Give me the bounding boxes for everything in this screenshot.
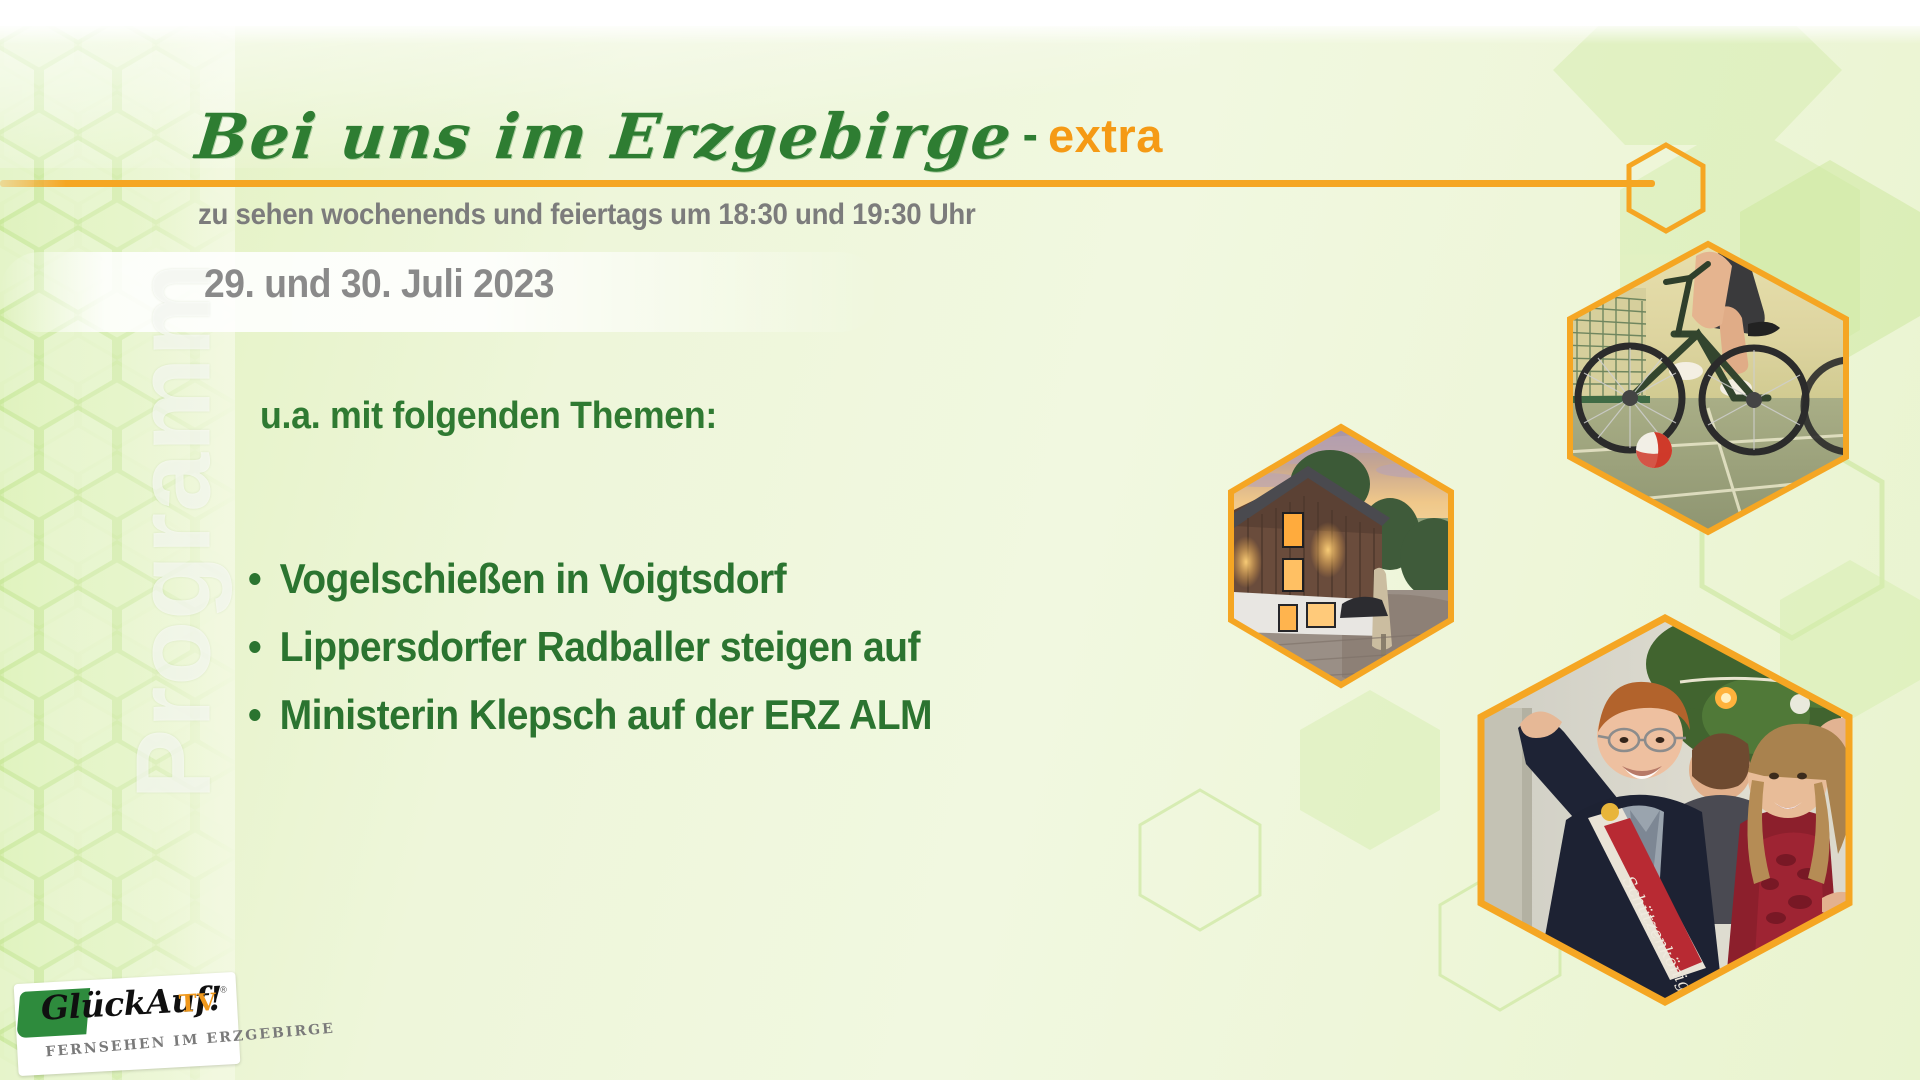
topics-intro: u.a. mit folgenden Themen: <box>260 395 717 438</box>
erz-alm-building-photo <box>1222 422 1460 690</box>
title-dash: - <box>1013 107 1048 161</box>
topics-list: •Vogelschießen in Voigtsdorf •Lippersdor… <box>248 545 983 749</box>
orange-divider-rule <box>0 180 1655 187</box>
list-item: •Ministerin Klepsch auf der ERZ ALM <box>248 681 932 749</box>
topic-text: Ministerin Klepsch auf der ERZ ALM <box>280 691 932 738</box>
schuetzenkoenig-couple-photo: Schützenkönig <box>1470 612 1860 1008</box>
page-title: Bei uns im Erzgebirge-extra <box>196 100 1163 173</box>
orange-hexagon-icon <box>1625 142 1707 234</box>
topic-text: Lippersdorfer Radballer steigen auf <box>280 623 920 670</box>
list-item: •Vogelschießen in Voigtsdorf <box>248 545 932 613</box>
broadcast-date: 29. und 30. Juli 2023 <box>204 262 554 307</box>
logo-tv-text: TV <box>178 987 217 1018</box>
topic-text: Vogelschießen in Voigtsdorf <box>280 555 787 602</box>
glueckauf-tv-logo: GlückAuf! TV ® FERNSEHEN IM ERZGEBIRGE <box>14 972 241 1076</box>
bullet-glyph: • <box>248 613 280 681</box>
logo-registered-mark: ® <box>220 984 227 994</box>
list-item: •Lippersdorfer Radballer steigen auf <box>248 613 932 681</box>
bullet-glyph: • <box>248 681 280 749</box>
title-extra-text: extra <box>1048 108 1163 163</box>
section-label-programm: Programm <box>114 121 235 941</box>
radball-cyclist-photo <box>1558 238 1858 538</box>
broadcast-programme-slide: Programm Bei uns im Erzgebirge-extra zu … <box>0 0 1920 1080</box>
title-script-text: Bei uns im Erzgebirge <box>192 100 1016 173</box>
schedule-subtitle: zu sehen wochenends und feiertags um 18:… <box>198 198 975 232</box>
bullet-glyph: • <box>248 545 280 613</box>
